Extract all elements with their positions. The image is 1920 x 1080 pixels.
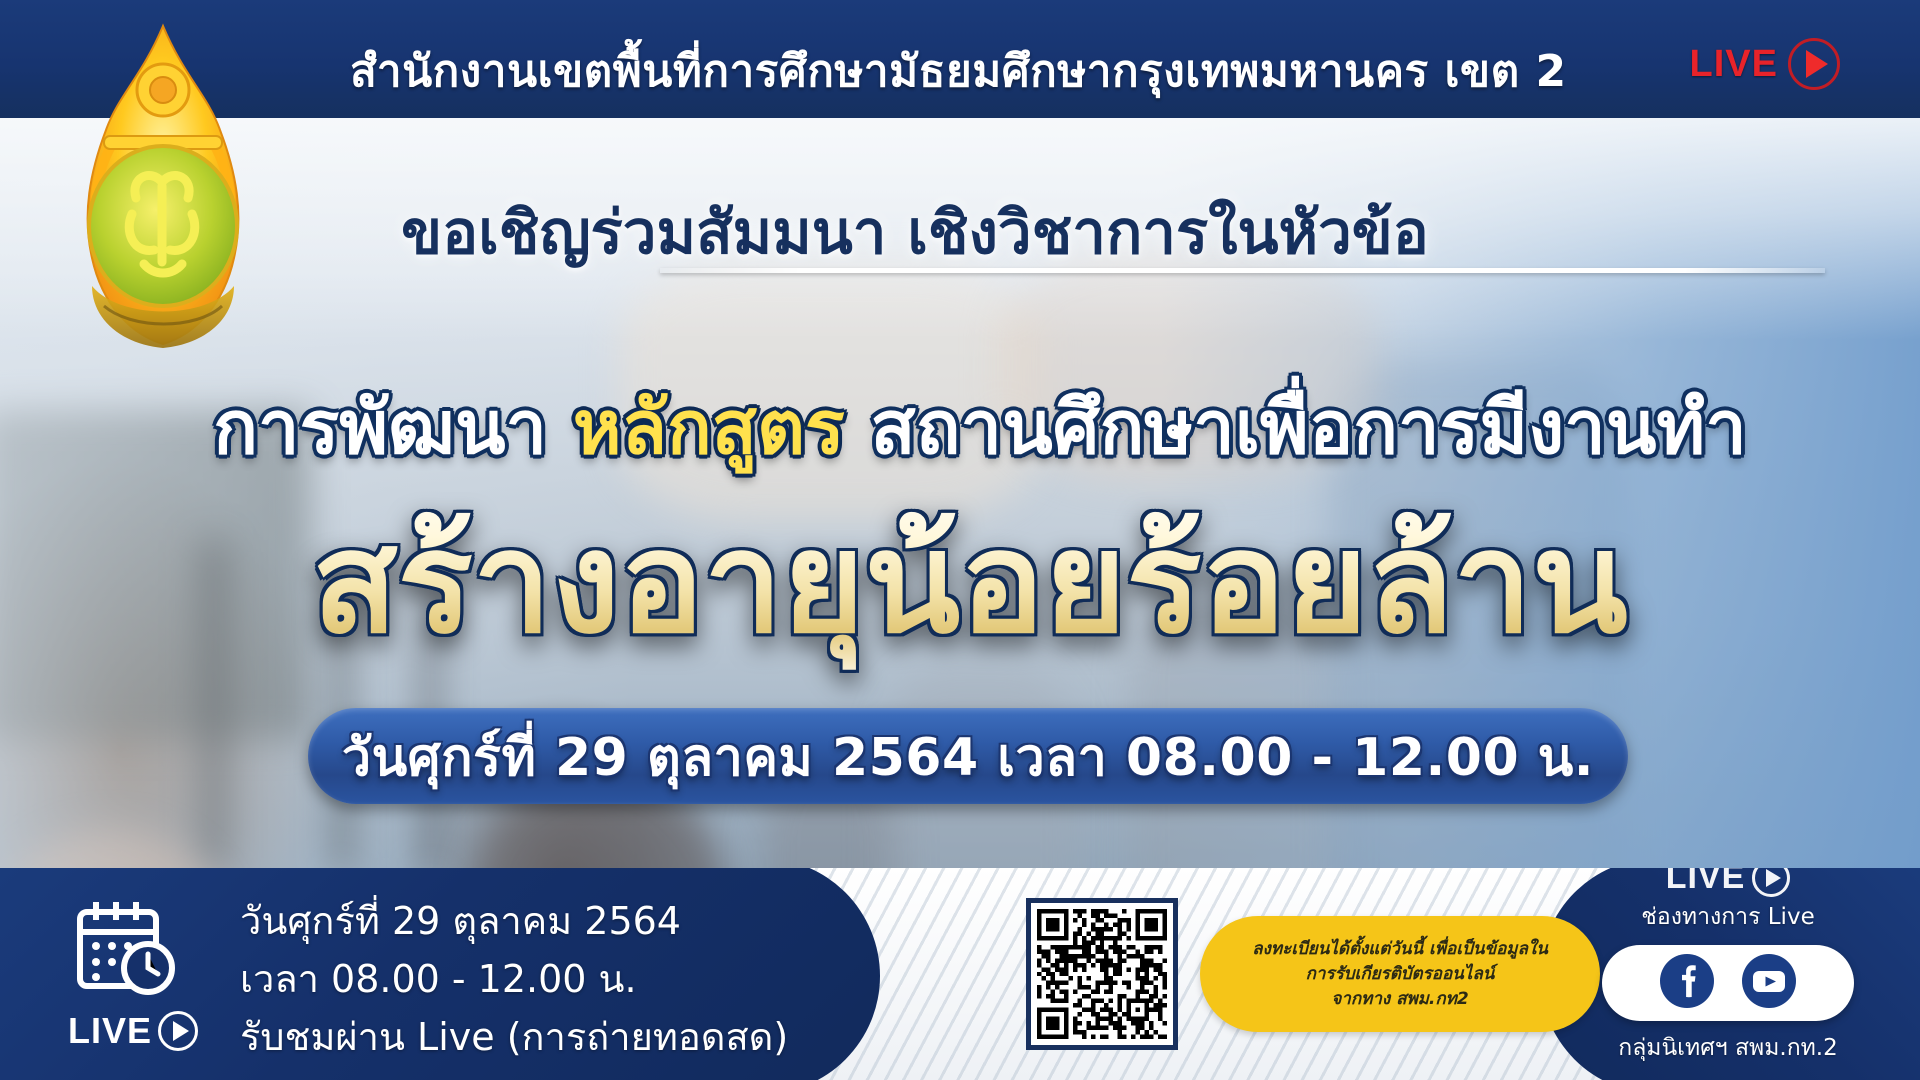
register-note-line-1: ลงทะเบียนได้ตั้งแต่วันนี้ เพื่อเป็นข้อมู… [1252, 937, 1548, 962]
live-label: LIVE [1690, 43, 1778, 86]
calendar-clock-icon [72, 892, 180, 1000]
topic-highlight: หลักสูตร [573, 385, 845, 471]
live-badge-header[interactable]: LIVE [1690, 38, 1840, 90]
ministry-emblem-icon [58, 18, 268, 358]
social-channels-block: LIVE ช่องทางการ Live [1578, 868, 1878, 1080]
topic-line: การพัฒนา หลักสูตร สถานศึกษาเพื่อการมีงาน… [0, 368, 1920, 486]
register-note-line-2: การรับเกียรติบัตรออนไลน์ [1306, 962, 1495, 987]
invite-line: ขอเชิญร่วมสัมมนา เชิงวิชาการในหัวข้อ [0, 185, 1920, 280]
footer-watch: รับชมผ่าน Live (การถ่ายทอดสด) [240, 1008, 840, 1066]
topic-suffix: สถานศึกษาเพื่อการมีงานทำ [845, 385, 1747, 471]
date-time-banner: วันศุกร์ที่ 29 ตุลาคม 2564 เวลา 08.00 - … [308, 708, 1628, 804]
qr-code[interactable] [1026, 898, 1178, 1050]
youtube-icon[interactable] [1741, 953, 1797, 1013]
office-title: สำนักงานเขตพื้นที่การศึกษามัธยมศึกษากรุง… [350, 36, 1650, 106]
live-label-footer: LIVE [68, 1010, 152, 1052]
footer-info-block: LIVE วันศุกร์ที่ 29 ตุลาคม 2564 เวลา 08.… [60, 884, 840, 1070]
live-badge-social: LIVE [1666, 868, 1791, 897]
main-headline: สร้างอายุน้อยร้อยล้าน [0, 470, 1920, 693]
registration-note: ลงทะเบียนได้ตั้งแต่วันนี้ เพื่อเป็นข้อมู… [1200, 916, 1600, 1032]
social-owner-label: กลุ่มนิเทศฯ สพม.กท.2 [1618, 1030, 1837, 1066]
play-icon-social [1752, 868, 1790, 897]
facebook-icon[interactable] [1659, 953, 1715, 1013]
topic-prefix: การพัฒนา [213, 385, 573, 471]
live-badge-footer[interactable]: LIVE [68, 1010, 198, 1052]
footer-text-group: วันศุกร์ที่ 29 ตุลาคม 2564 เวลา 08.00 - … [240, 892, 840, 1066]
footer-date: วันศุกร์ที่ 29 ตุลาคม 2564 [240, 892, 840, 950]
play-icon [1788, 38, 1840, 90]
date-time-text: วันศุกร์ที่ 29 ตุลาคม 2564 เวลา 08.00 - … [342, 715, 1594, 798]
social-icons-pill [1602, 945, 1854, 1021]
register-note-line-3: จากทาง สพม.กท2 [1331, 987, 1468, 1012]
social-caption: ช่องทางการ Live [1641, 899, 1814, 935]
live-label-social: LIVE [1666, 868, 1746, 897]
divider-rule [660, 268, 1825, 273]
top-navy-bar: สำนักงานเขตพื้นที่การศึกษามัธยมศึกษากรุง… [0, 0, 1920, 118]
footer-time: เวลา 08.00 - 12.00 น. [240, 950, 840, 1008]
play-icon-footer [158, 1011, 198, 1051]
footer-bar: LIVE วันศุกร์ที่ 29 ตุลาคม 2564 เวลา 08.… [0, 868, 1920, 1080]
poster-root: สำนักงานเขตพื้นที่การศึกษามัธยมศึกษากรุง… [0, 0, 1920, 1080]
